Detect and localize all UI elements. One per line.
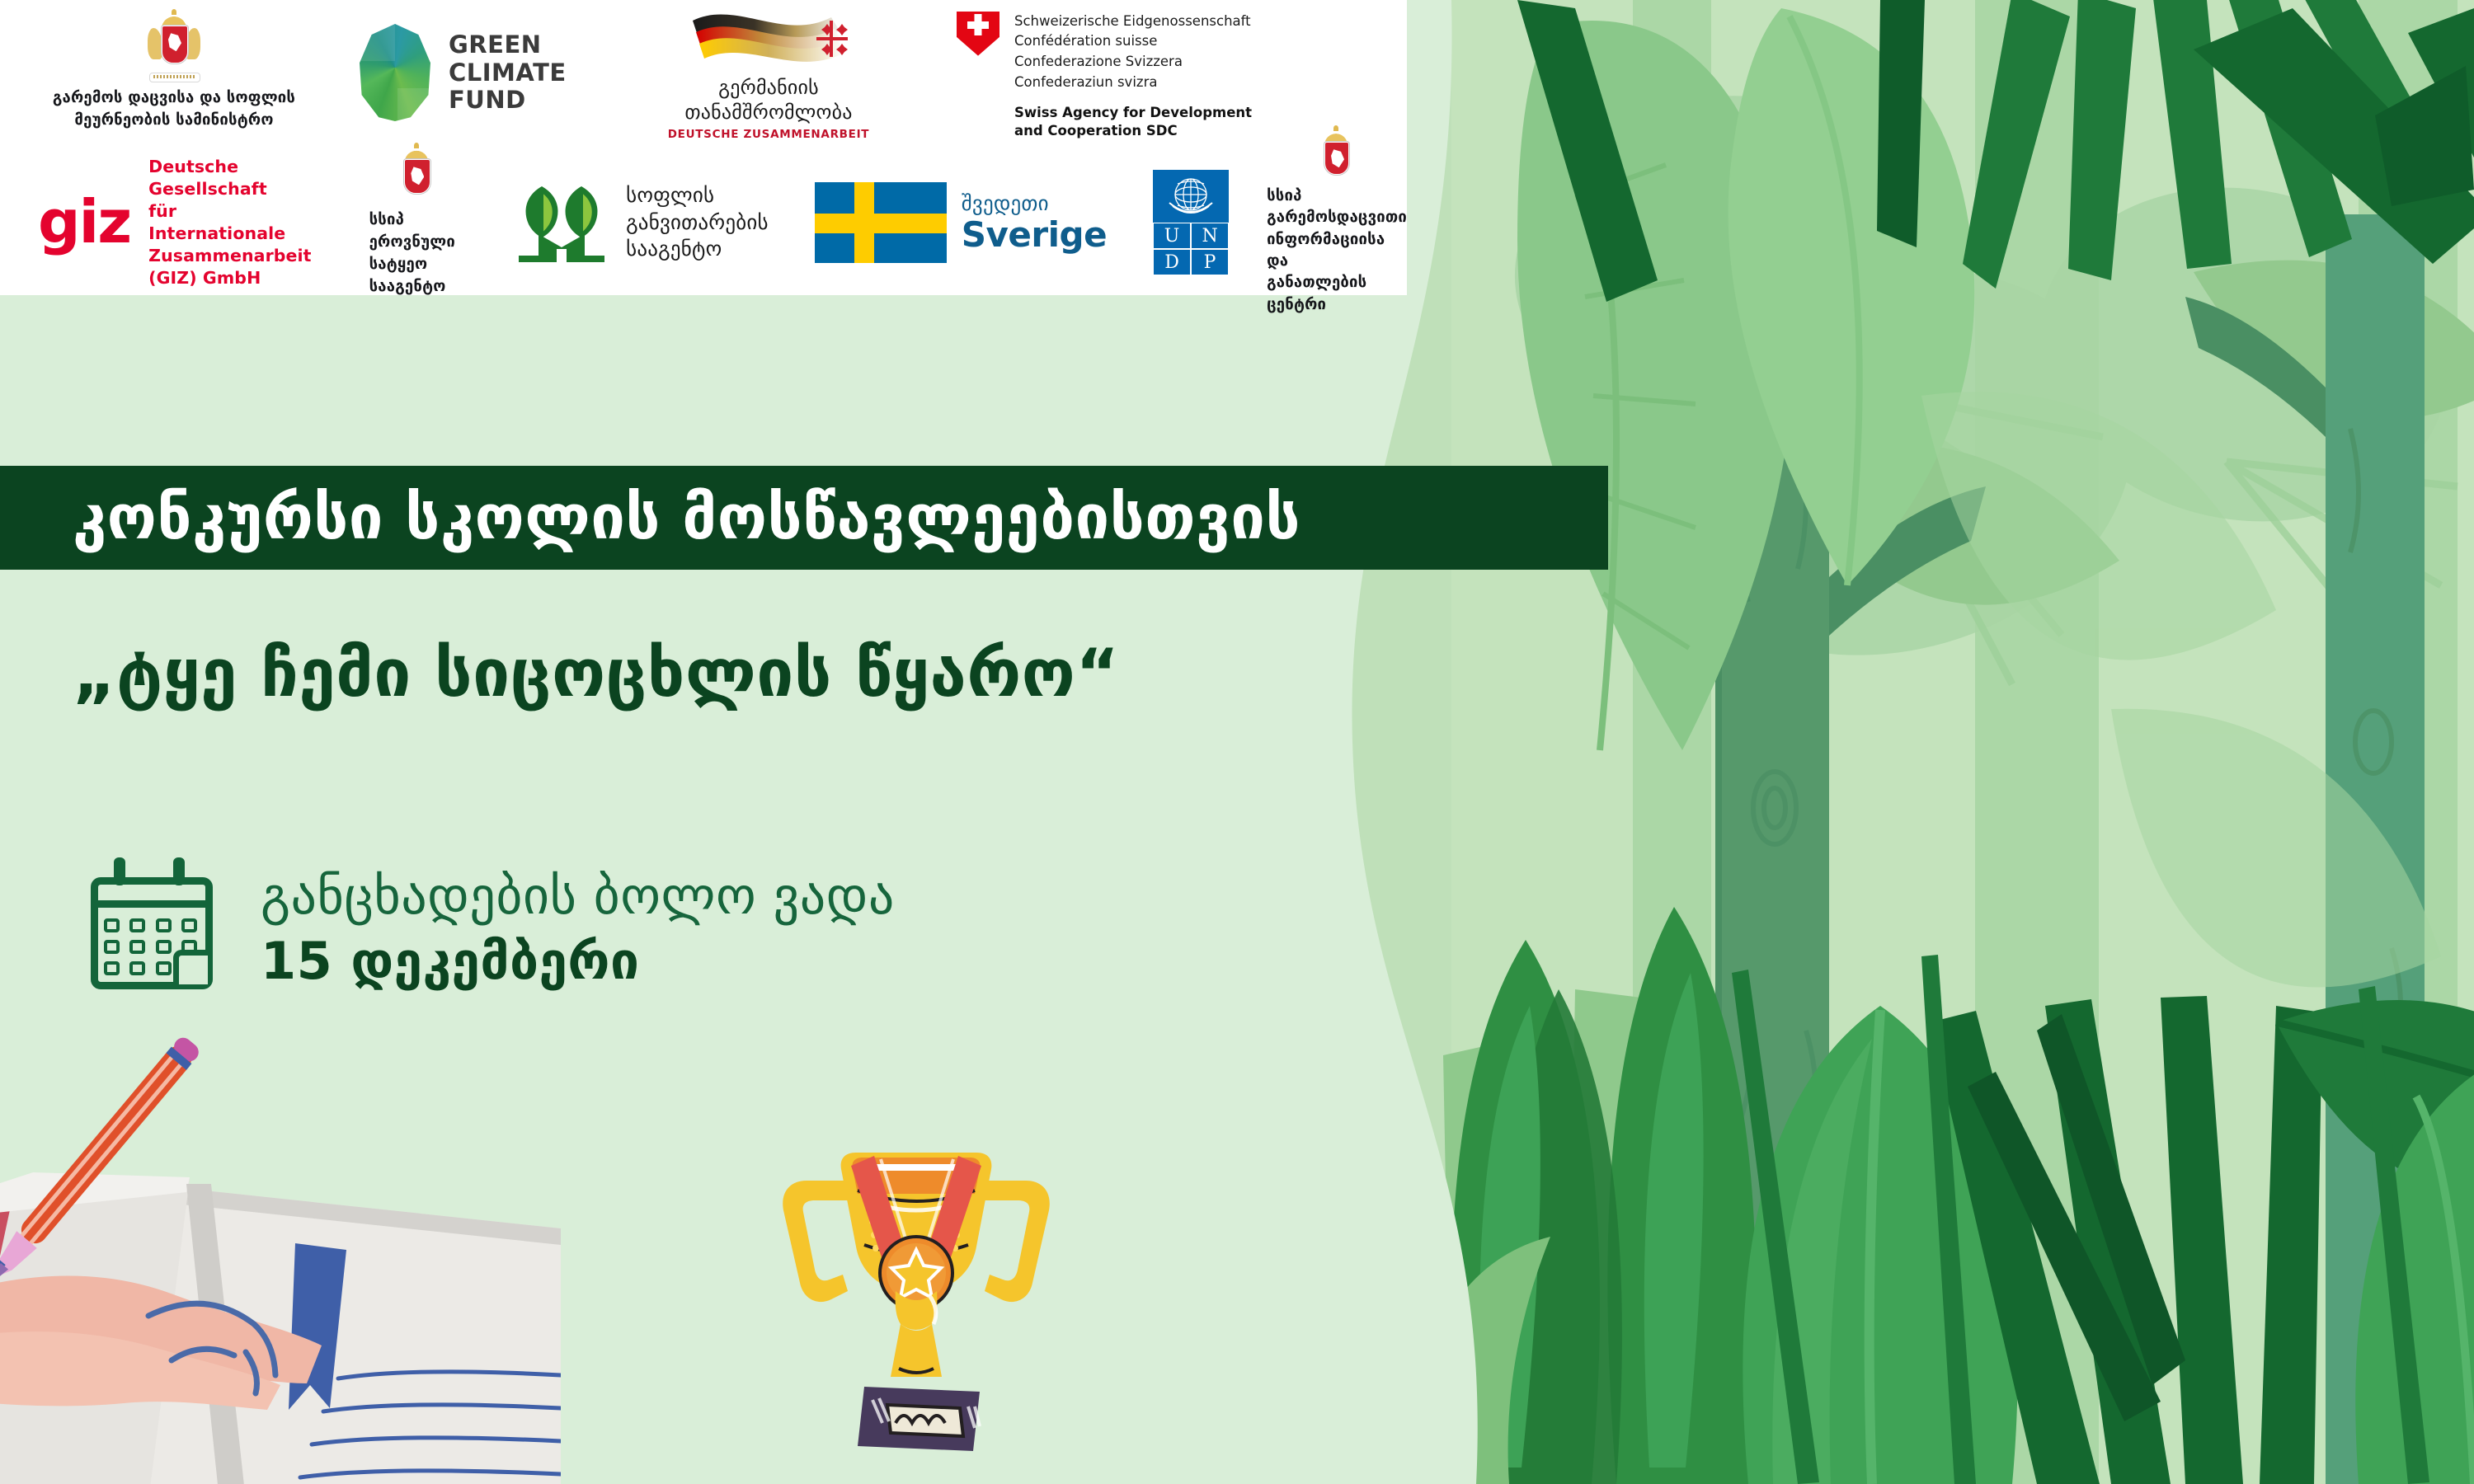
forestry-line-2: სატყეო სააგენტო xyxy=(369,254,464,298)
logo-undp: U N D P xyxy=(1107,170,1229,275)
giz-line-1: Deutsche Gesellschaft xyxy=(148,156,311,200)
eiec-line-3: განათლების ცენტრი xyxy=(1267,272,1407,316)
logo-swiss-confederation-sdc: Schweizerische Eidgenossenschaft Confédé… xyxy=(892,5,1252,141)
undp-letter-d: D xyxy=(1153,249,1191,275)
german-coop-line-1: გერმანიის xyxy=(718,75,819,100)
gcf-gem-icon xyxy=(360,24,430,121)
deadline-date: 15 დეკემბერი xyxy=(261,931,895,991)
rda-line-1: სოფლის xyxy=(626,182,769,209)
georgia-coat-of-arms-icon xyxy=(148,13,200,82)
poster-canvas: გარემოს დაცვისა და სოფლის მეურნეობის სამ… xyxy=(0,0,2474,1484)
eiec-line-1: სსიპ გარემოსდაცვითი xyxy=(1267,185,1407,229)
rda-line-3: სააგენტო xyxy=(626,236,769,263)
german-coop-sub: DEUTSCHE ZUSAMMENARBEIT xyxy=(668,128,869,141)
undp-letter-p: P xyxy=(1191,249,1229,275)
german-coop-line-2: თანამშრომლობა xyxy=(684,100,852,124)
calendar-icon xyxy=(91,857,213,989)
gcf-line-2: CLIMATE xyxy=(449,59,567,87)
logo-giz: giz Deutsche Gesellschaft für Internatio… xyxy=(38,156,312,289)
sweden-line-ka: შვედეთი xyxy=(962,191,1107,216)
deadline-block: განცხადების ბოლო ვადა 15 დეკემბერი xyxy=(91,857,895,991)
logo-ministry-line-2: მეურნეობის სამინისტრო xyxy=(74,110,273,132)
logo-rural-development-agency: სოფლის განვითარების სააგენტო xyxy=(464,182,769,263)
logo-environmental-information-education-centre: სსიპ გარემოსდაცვითი ინფორმაციისა და განა… xyxy=(1229,129,1407,316)
logo-german-cooperation: გერმანიის თანამშრომლობა DEUTSCHE ZUSAMME… xyxy=(599,4,892,141)
logo-ministry-line-1: გარემოს დაცვისა და სოფლის xyxy=(53,87,295,110)
eiec-line-2: ინფორმაციისა და xyxy=(1267,229,1407,273)
logo-row-2: giz Deutsche Gesellschaft für Internatio… xyxy=(38,161,1407,284)
swiss-line-4: Confederaziun svizra xyxy=(1014,73,1252,93)
logo-sweden-sverige: შვედეთი Sverige xyxy=(769,182,1107,263)
logo-row-1: გარემოს დაცვისა და სოფლის მეურნეობის სამ… xyxy=(38,7,1252,139)
forestry-line-1: სსიპ ეროვნული xyxy=(369,209,464,254)
giz-line-3: Zusammenarbeit (GIZ) GmbH xyxy=(148,245,311,289)
sponsor-logo-strip: გარემოს დაცვისა და სოფლის მეურნეობის სამ… xyxy=(0,0,1407,295)
un-globe-icon: U N D P xyxy=(1153,170,1229,275)
trophy-illustration xyxy=(742,1129,1089,1484)
swiss-line-2: Confédération suisse xyxy=(1014,31,1252,52)
germany-georgia-flag-ribbon-icon xyxy=(686,4,851,73)
undp-letter-n: N xyxy=(1191,223,1229,249)
swiss-line-1: Schweizerische Eidgenossenschaft xyxy=(1014,12,1252,32)
swiss-line-3: Confederazione Svizzera xyxy=(1014,52,1252,73)
logo-green-climate-fund: GREEN CLIMATE FUND xyxy=(310,24,599,121)
giz-line-2: für Internationale xyxy=(148,200,311,245)
subtitle-text: „ტყე ჩემი სიცოცხლის წყარო“ xyxy=(73,635,1119,711)
deadline-label: განცხადების ბოლო ვადა xyxy=(261,866,895,926)
logo-national-forestry-agency: სსიპ ეროვნული სატყეო სააგენტო xyxy=(312,147,464,298)
rda-line-2: განვითარების xyxy=(626,209,769,237)
headline-band: კონკურსი სკოლის მოსწავლეებისთვის xyxy=(0,466,1608,570)
georgia-coat-of-arms-icon xyxy=(1319,129,1355,181)
sweden-wordmark: Sverige xyxy=(962,216,1107,254)
headline-text: კონკურსი სკოლის მოსწავლეებისთვის xyxy=(73,482,1300,553)
two-trees-house-icon xyxy=(514,183,609,262)
georgia-coat-of-arms-icon xyxy=(397,147,436,203)
giz-wordmark: giz xyxy=(38,198,130,247)
hand-writing-illustration xyxy=(0,1022,561,1484)
gcf-line-3: FUND xyxy=(449,87,567,114)
sweden-flag-icon xyxy=(815,182,947,263)
gcf-line-1: GREEN xyxy=(449,31,567,59)
swiss-sdc-line-1: Swiss Agency for Development xyxy=(1014,104,1252,122)
undp-letter-u: U xyxy=(1153,223,1191,249)
logo-ministry-of-environmental-protection: გარემოს დაცვისა და სოფლის მეურნეობის სამ… xyxy=(38,13,310,132)
swiss-sdc-line-2: and Cooperation SDC xyxy=(1014,122,1252,140)
swiss-cross-shield-icon xyxy=(957,12,999,56)
